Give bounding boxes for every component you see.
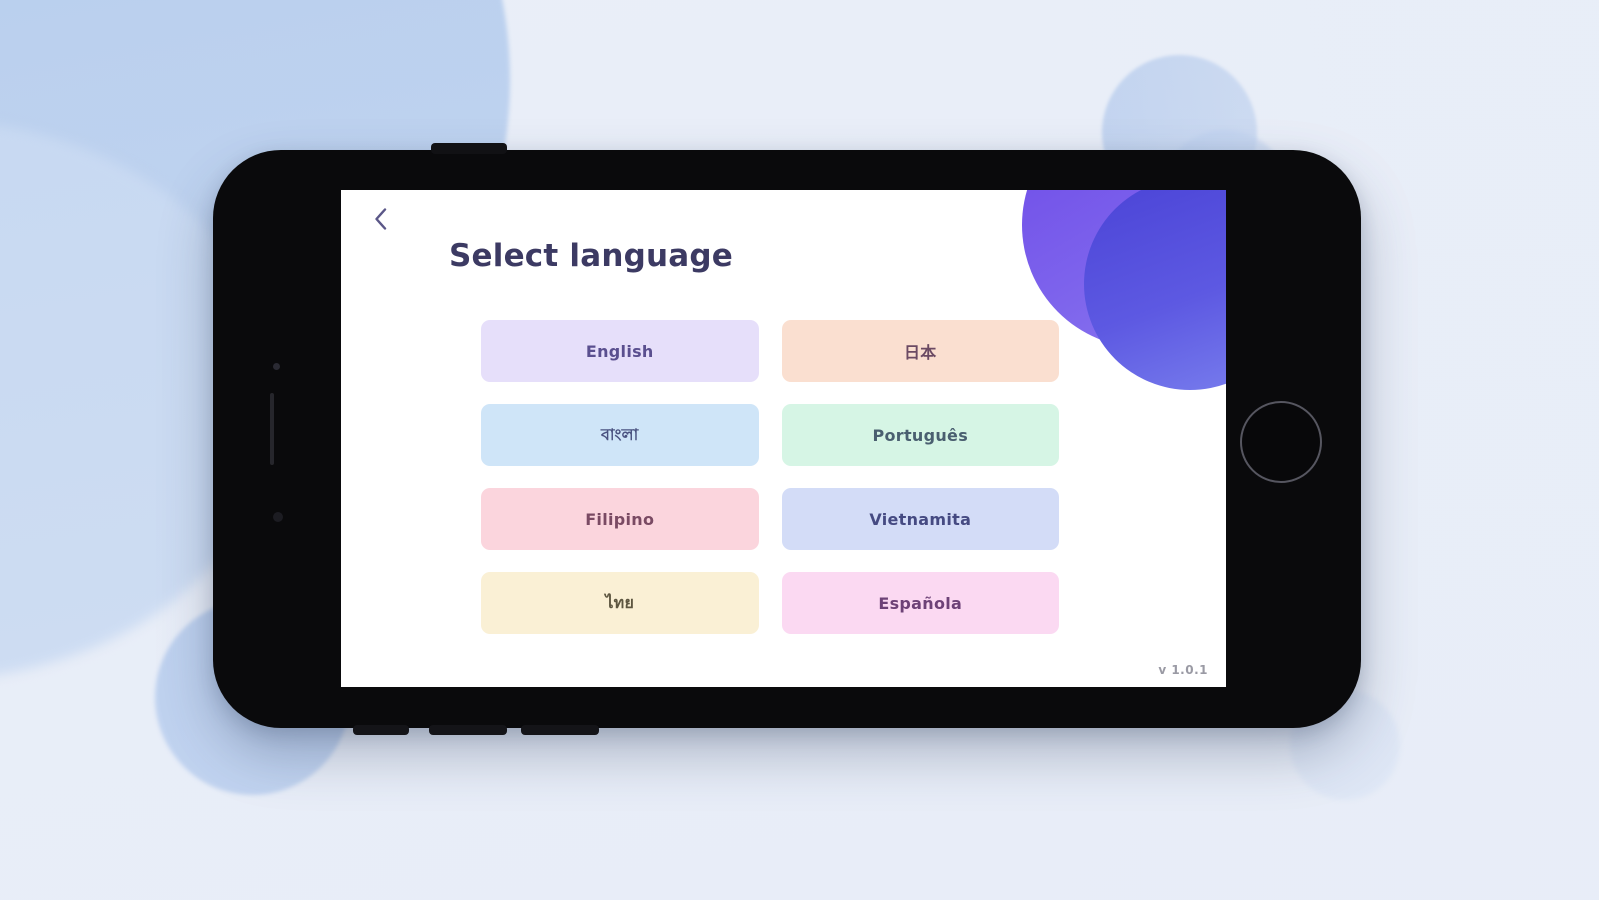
- volume-up-button[interactable]: [429, 725, 507, 735]
- home-button[interactable]: [1240, 401, 1322, 483]
- version-label: v 1.0.1: [1158, 663, 1208, 677]
- phone-device: Select language English 日本 বাংলা Portugu…: [213, 150, 1361, 728]
- volume-down-button[interactable]: [521, 725, 599, 735]
- decorative-circle-purple-small: [1084, 190, 1226, 390]
- power-button[interactable]: [431, 143, 507, 154]
- back-button[interactable]: [365, 204, 395, 234]
- language-button-english[interactable]: English: [481, 320, 759, 382]
- earpiece-speaker: [270, 393, 274, 465]
- language-button-filipino[interactable]: Filipino: [481, 488, 759, 550]
- language-button-thai[interactable]: ไทย: [481, 572, 759, 634]
- page-title: Select language: [449, 238, 733, 274]
- language-button-vietnamese[interactable]: Vietnamita: [782, 488, 1060, 550]
- chevron-left-icon: [374, 208, 387, 230]
- page-root: Select language English 日本 বাংলা Portugu…: [0, 0, 1599, 900]
- language-grid: English 日本 বাংলা Português Filipino Viet…: [481, 320, 1059, 634]
- language-button-portuguese[interactable]: Português: [782, 404, 1060, 466]
- phone-screen: Select language English 日本 বাংলা Portugu…: [341, 190, 1226, 687]
- app-screen: Select language English 日本 বাংলা Portugu…: [341, 190, 1226, 687]
- language-button-japanese[interactable]: 日本: [782, 320, 1060, 382]
- language-button-bengali[interactable]: বাংলা: [481, 404, 759, 466]
- front-camera-icon: [273, 363, 280, 370]
- proximity-sensor: [273, 512, 283, 522]
- language-button-spanish[interactable]: Española: [782, 572, 1060, 634]
- side-button-silent[interactable]: [353, 725, 409, 735]
